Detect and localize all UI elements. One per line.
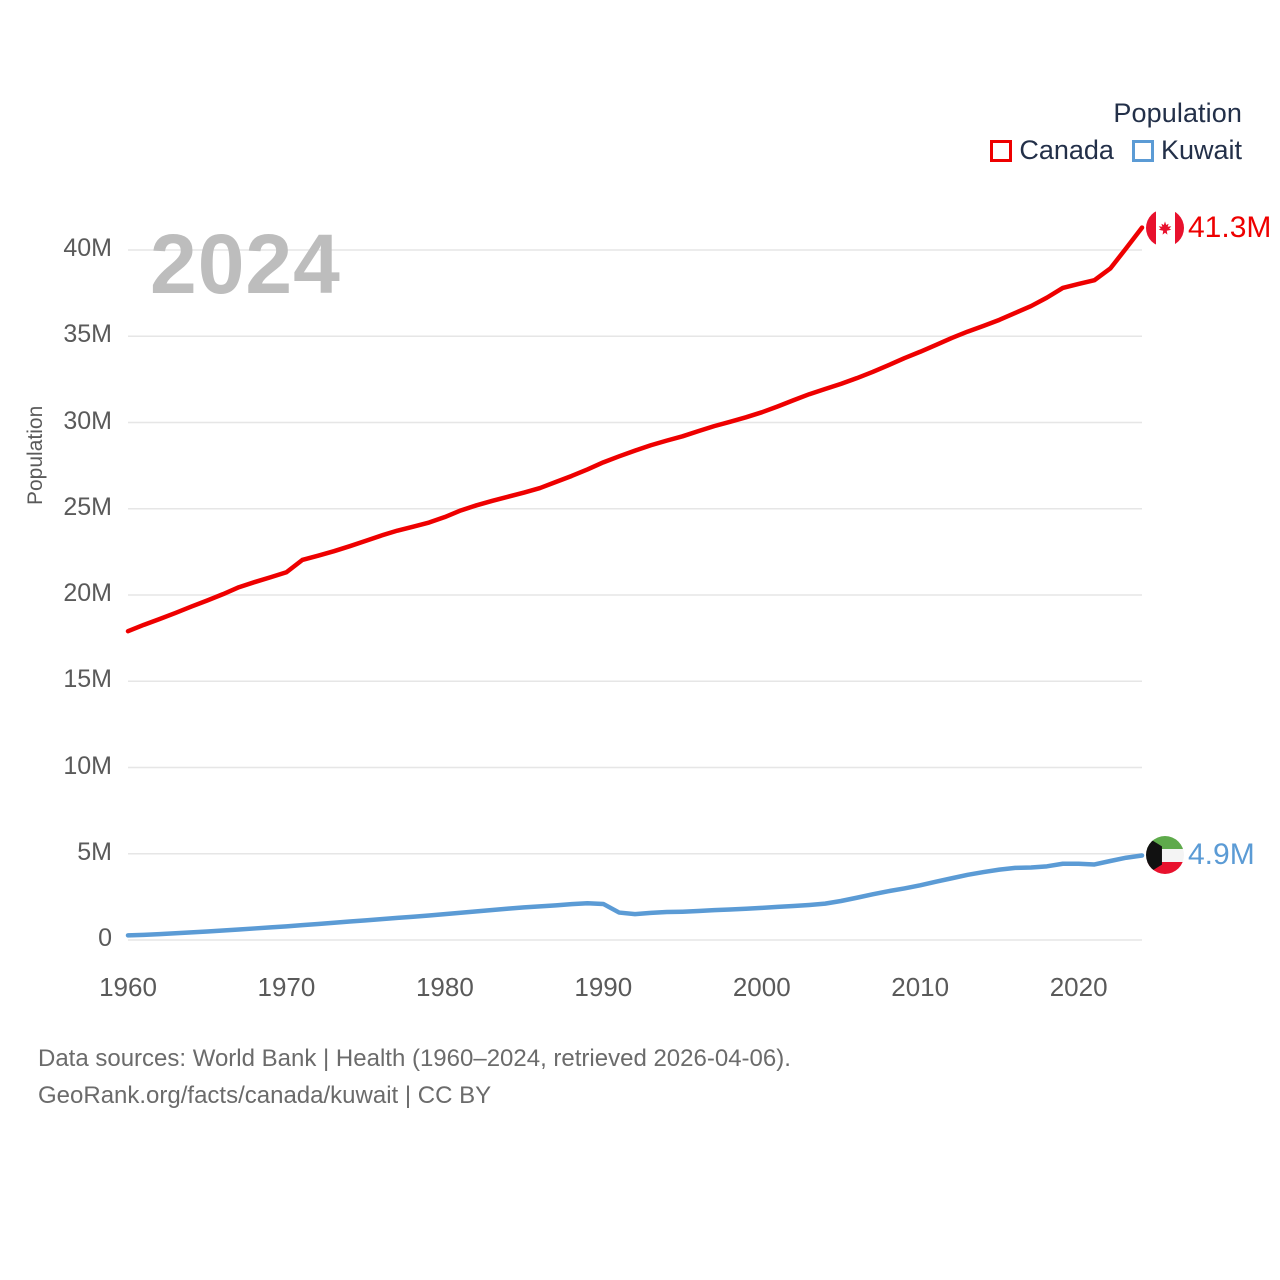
footer-line-attribution: GeoRank.org/facts/canada/kuwait | CC BY (38, 1077, 791, 1114)
y-axis-tick-label: 0 (20, 924, 112, 953)
x-axis-tick-label: 1960 (68, 972, 188, 1003)
x-axis-tick-label: 2020 (1019, 972, 1139, 1003)
canada-endpoint: 41.3M (1146, 209, 1271, 247)
chart-gridlines (128, 250, 1142, 940)
kuwait-flag-icon (1146, 836, 1184, 874)
x-axis-tick-label: 1990 (543, 972, 663, 1003)
y-axis-tick-label: 20M (20, 579, 112, 608)
year-watermark: 2024 (150, 222, 341, 306)
chart-plot-area: 2024 Population 05M10M15M20M25M30M35M40M… (0, 0, 1280, 1030)
y-axis-tick-label: 15M (20, 665, 112, 694)
y-axis-tick-label: 5M (20, 838, 112, 867)
kuwait-endpoint: 4.9M (1146, 836, 1255, 874)
chart-page: Population Canada Kuwait 2024 Population… (0, 0, 1280, 1280)
y-axis-tick-label: 10M (20, 752, 112, 781)
x-axis-tick-label: 1970 (226, 972, 346, 1003)
canada-flag-icon (1146, 209, 1184, 247)
chart-footer: Data sources: World Bank | Health (1960–… (38, 1040, 791, 1114)
series-line-kuwait (128, 855, 1142, 935)
kuwait-endpoint-value: 4.9M (1188, 840, 1255, 870)
footer-line-sources: Data sources: World Bank | Health (1960–… (38, 1040, 791, 1077)
y-axis-tick-label: 25M (20, 493, 112, 522)
y-axis-tick-label: 35M (20, 320, 112, 349)
maple-leaf-icon (1158, 220, 1173, 235)
x-axis-tick-label: 2010 (860, 972, 980, 1003)
x-axis-tick-label: 1980 (385, 972, 505, 1003)
canada-endpoint-value: 41.3M (1188, 213, 1271, 243)
x-axis-tick-label: 2000 (702, 972, 822, 1003)
chart-svg (0, 0, 1280, 1030)
y-axis-tick-label: 30M (20, 407, 112, 436)
y-axis-tick-label: 40M (20, 234, 112, 263)
